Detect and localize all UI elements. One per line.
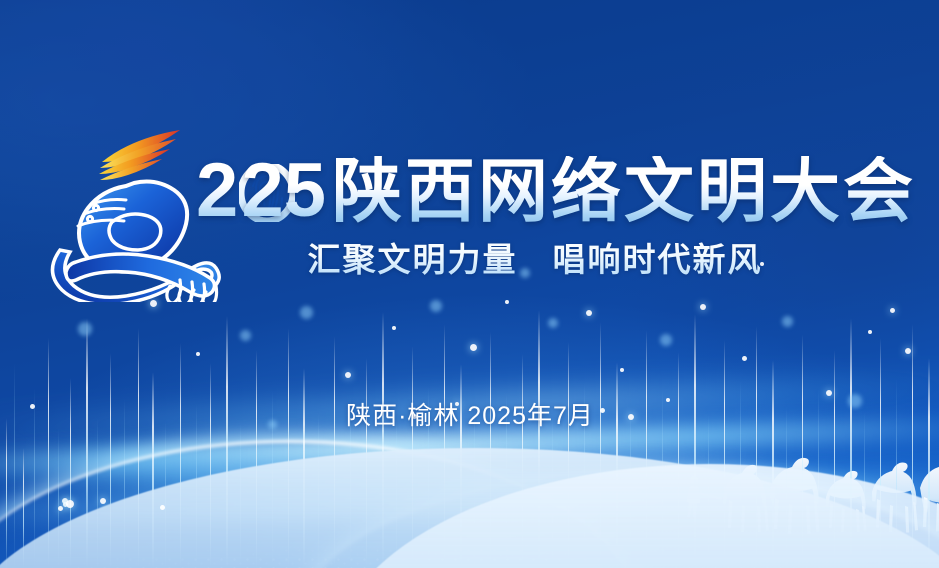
poster-canvas: 2 (0, 0, 939, 568)
poster-subtitle: 汇聚文明力量 唱响时代新风 (300, 234, 770, 280)
page-title: 2 (196, 146, 916, 236)
flame-wing (99, 130, 180, 180)
subtitle-text: 汇聚文明力量 唱响时代新风 (308, 233, 763, 281)
fingerprint-icon (239, 156, 240, 226)
venue-date-line: 陕西·榆林 2025年7月 (320, 396, 620, 432)
title-year-prefix: 2 (196, 153, 238, 229)
title-main-text: 陕西网络文明大会 (332, 156, 916, 226)
title-year-suffix: 25 (241, 153, 326, 229)
